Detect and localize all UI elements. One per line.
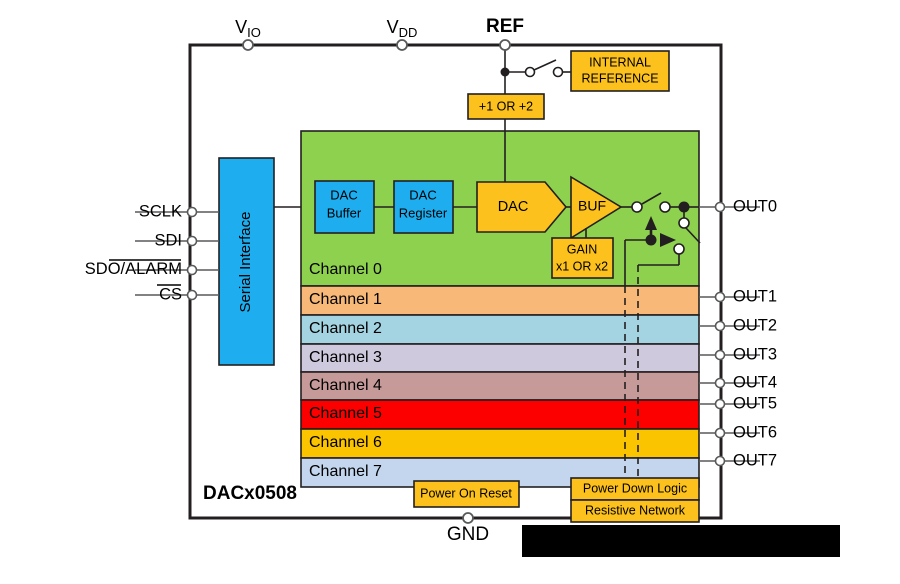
buf-label: BUF: [578, 198, 606, 214]
power-on-reset-block: Power On Reset: [414, 481, 519, 507]
redaction-bar: [522, 525, 840, 557]
gain-line2: x1 OR x2: [556, 259, 608, 273]
channel-label-3: Channel 3: [309, 349, 382, 366]
output-pin-label-out7: OUT7: [733, 451, 777, 469]
diagram-canvas: INTERNAL REFERENCE +1 OR +2 Serial Inter…: [0, 0, 900, 584]
alarm-overlined: ALARM: [125, 260, 182, 278]
power-down-logic-block: Power Down Logic: [571, 478, 699, 500]
input-pin-label-sdi: SDI: [154, 231, 182, 249]
channel-label-2: Channel 2: [309, 320, 382, 337]
output-pin-label-out2: OUT2: [733, 316, 777, 334]
input-pin-label-sdo-alarm: SDO/ALARM: [85, 260, 182, 278]
dac-register-line1: DAC: [409, 187, 436, 202]
output-pin-label-out3: OUT3: [733, 345, 777, 363]
power-down-logic-label: Power Down Logic: [583, 481, 687, 495]
input-pin-label-sclk: SCLK: [139, 202, 182, 220]
ground-pin-label: GND: [447, 524, 489, 545]
vio-main: V: [235, 17, 247, 37]
vdd-sub: DD: [399, 25, 418, 40]
dac-register-line2: Register: [399, 205, 448, 220]
input-pin-label-cs: CS: [157, 285, 182, 303]
sdo-prefix: SDO/: [85, 260, 126, 278]
part-number-label: DACx0508: [203, 483, 297, 504]
resistive-network-block: Resistive Network: [571, 500, 699, 522]
output-pin-label-out4: OUT4: [733, 373, 777, 391]
gain-line1: GAIN: [567, 242, 598, 256]
output-pin-label-out5: OUT5: [733, 394, 777, 412]
power-on-reset-label: Power On Reset: [420, 486, 512, 500]
dac-buffer-line2: Buffer: [327, 205, 362, 220]
supply-pin-label-vio: VIO: [235, 17, 261, 41]
channel-label-4: Channel 4: [309, 377, 382, 394]
gain-block: GAIN x1 OR x2: [552, 238, 613, 278]
internal-reference-line1: INTERNAL: [589, 55, 651, 69]
channel-label-1: Channel 1: [309, 291, 382, 308]
vdd-main: V: [387, 17, 399, 37]
svg-text:VIO: VIO: [235, 17, 261, 41]
supply-pin-label-vdd: VDD: [387, 17, 418, 41]
resistive-network-label: Resistive Network: [585, 503, 686, 517]
output-pin-label-out0: OUT0: [733, 197, 777, 215]
ref-multiplier-label: +1 OR +2: [479, 99, 533, 113]
svg-text:SDO/ALARM: SDO/ALARM: [85, 260, 182, 278]
vio-sub: IO: [247, 25, 261, 40]
svg-text:VDD: VDD: [387, 17, 418, 41]
channel-label-7: Channel 7: [309, 463, 382, 480]
block-diagram-figure: INTERNAL REFERENCE +1 OR +2 Serial Inter…: [0, 0, 900, 584]
internal-reference-block: INTERNAL REFERENCE: [571, 51, 669, 91]
cs-overlined: CS: [159, 285, 182, 303]
serial-interface-label: Serial Interface: [237, 212, 254, 313]
internal-reference-line2: REFERENCE: [581, 71, 658, 85]
dac-label: DAC: [498, 199, 529, 215]
output-pin-label-out6: OUT6: [733, 423, 777, 441]
channel-label-5: Channel 5: [309, 405, 382, 422]
output-pin-label-out1: OUT1: [733, 287, 777, 305]
channel-label-6: Channel 6: [309, 434, 382, 451]
channel-label-0: Channel 0: [309, 261, 382, 278]
supply-pin-label-ref: REF: [486, 16, 524, 37]
dac-buffer-line1: DAC: [330, 187, 357, 202]
